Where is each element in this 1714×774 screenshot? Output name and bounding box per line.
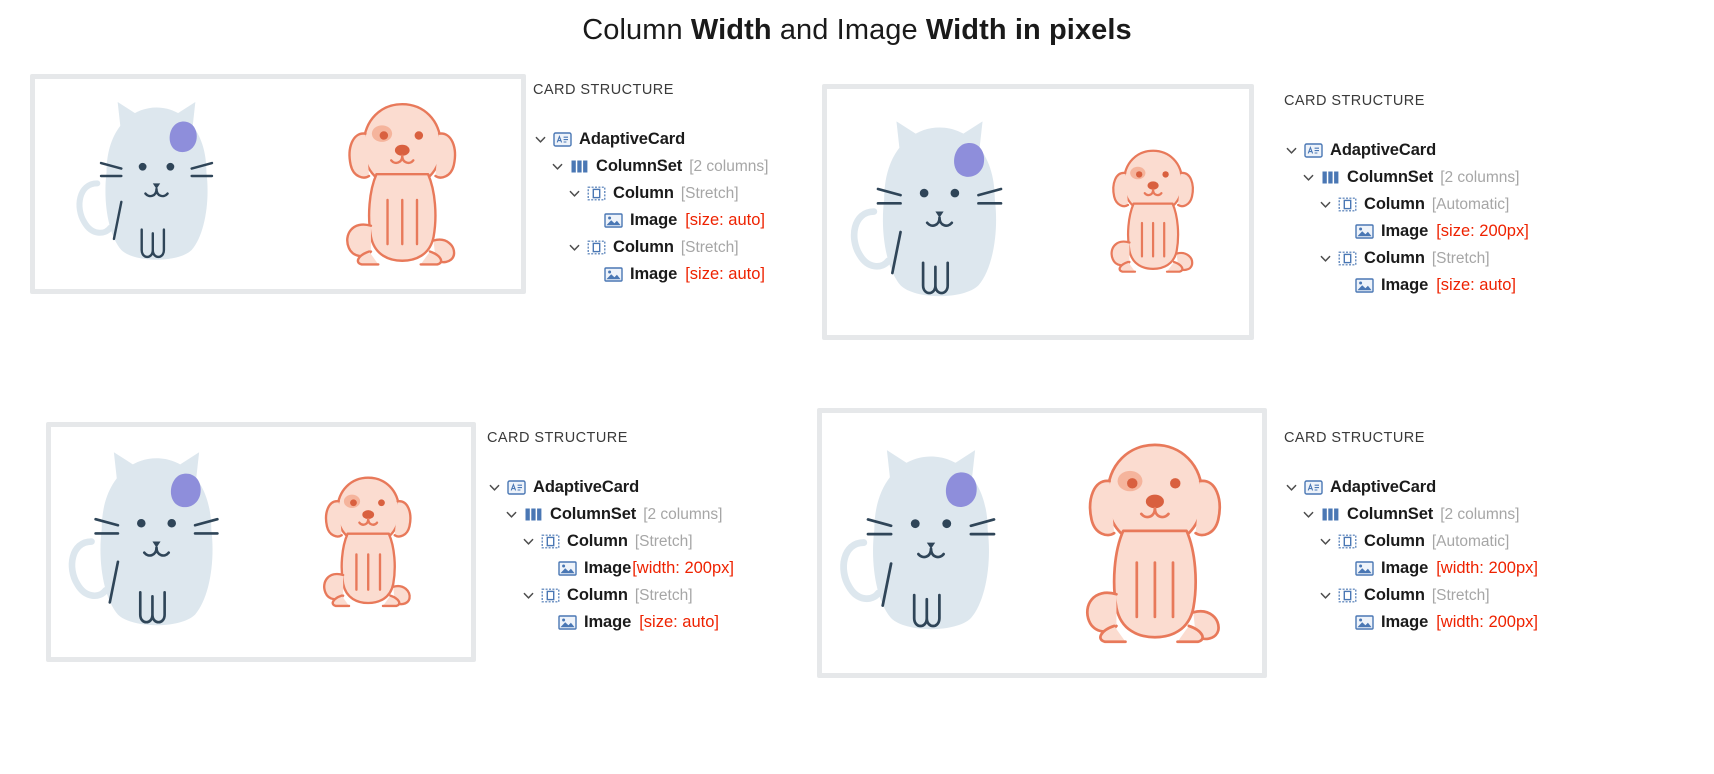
title-part-2: and Image [772, 14, 926, 46]
card-column-2 [278, 79, 521, 289]
chevron-down-icon[interactable] [521, 588, 536, 603]
tree-rows: AdaptiveCardColumnSet[2 columns]Column[S… [487, 474, 734, 636]
adaptivecard-icon [1304, 480, 1323, 495]
image-icon [1355, 615, 1374, 630]
tree-row[interactable]: ColumnSet[2 columns] [1284, 501, 1538, 528]
image-icon [558, 561, 577, 576]
column-icon [1338, 588, 1357, 603]
tree-node-meta: [Stretch] [1432, 250, 1490, 268]
chevron-down-icon[interactable] [1301, 507, 1316, 522]
tree-node-meta: [Automatic] [1432, 533, 1510, 551]
columnset-icon [524, 507, 543, 522]
tree-rows: AdaptiveCardColumnSet[2 columns]Column[S… [533, 126, 768, 288]
dog-image [312, 87, 487, 282]
chevron-down-icon[interactable] [487, 480, 502, 495]
image-icon [604, 267, 623, 282]
card-content [827, 89, 1249, 335]
column-icon [587, 240, 606, 255]
card-preview-bottom-right [817, 408, 1267, 678]
tree-title: CARD STRUCTURE [1284, 93, 1529, 109]
card-preview-top-left [30, 74, 526, 294]
tree-node-name: Column [1364, 249, 1425, 268]
chevron-down-icon[interactable] [1318, 251, 1333, 266]
tree-node-highlight: [size: auto] [685, 265, 765, 284]
tree-node-highlight: [size: auto] [1436, 276, 1516, 295]
chevron-down-icon[interactable] [1284, 143, 1299, 158]
card-structure-tree-top-left: CARD STRUCTURE AdaptiveCardColumnSet[2 c… [533, 82, 768, 288]
card-column-2 [261, 427, 471, 657]
image-icon [558, 615, 577, 630]
column-icon [541, 534, 560, 549]
tree-node-name: Image [630, 211, 677, 230]
chevron-down-icon[interactable] [1284, 480, 1299, 495]
cat-image [64, 87, 249, 282]
tree-node-name: Image [1381, 613, 1428, 632]
card-column-1 [51, 427, 261, 657]
tree-node-name: Column [567, 586, 628, 605]
tree-title: CARD STRUCTURE [487, 430, 734, 446]
tree-row[interactable]: Image[width: 200px] [487, 555, 734, 582]
tree-node-name: AdaptiveCard [1330, 141, 1436, 160]
tree-node-meta: [Automatic] [1432, 196, 1510, 214]
tree-node-name: AdaptiveCard [1330, 478, 1436, 497]
tree-node-meta: [Stretch] [681, 239, 739, 257]
tree-node-meta: [Stretch] [1432, 587, 1490, 605]
dog-image [1085, 138, 1217, 286]
tree-node-meta: [2 columns] [643, 506, 722, 524]
card-structure-tree-top-right: CARD STRUCTURE AdaptiveCardColumnSet[2 c… [1284, 93, 1529, 299]
tree-node-name: ColumnSet [1347, 168, 1433, 187]
tree-node-name: Image [1381, 559, 1428, 578]
tree-node-meta: [2 columns] [1440, 506, 1519, 524]
tree-node-name: Image [1381, 222, 1428, 241]
tree-row[interactable]: Image[size: 200px] [1284, 218, 1529, 245]
column-icon [1338, 197, 1357, 212]
chevron-down-icon[interactable] [1318, 588, 1333, 603]
image-icon [1355, 224, 1374, 239]
tree-node-highlight: [width: 200px] [632, 559, 734, 578]
tree-node-name: ColumnSet [1347, 505, 1433, 524]
tree-node-name: Column [613, 238, 674, 257]
tree-node-name: ColumnSet [596, 157, 682, 176]
dog-image [1044, 424, 1259, 662]
card-column-1 [827, 89, 1052, 335]
tree-node-name: Image [1381, 276, 1428, 295]
tree-node-name: AdaptiveCard [533, 478, 639, 497]
chevron-down-icon[interactable] [1318, 534, 1333, 549]
columnset-icon [1321, 507, 1340, 522]
tree-node-name: Image [630, 265, 677, 284]
tree-node-highlight: [size: auto] [639, 613, 719, 632]
tree-row[interactable]: AdaptiveCard [1284, 474, 1538, 501]
tree-node-name: ColumnSet [550, 505, 636, 524]
title-bold-1: Width [691, 14, 772, 46]
tree-title: CARD STRUCTURE [1284, 430, 1538, 446]
adaptivecard-icon [1304, 143, 1323, 158]
tree-node-highlight: [width: 200px] [1436, 559, 1538, 578]
tree-row[interactable]: Column[Stretch] [487, 582, 734, 609]
tree-node-meta: [2 columns] [689, 158, 768, 176]
tree-node-name: Column [1364, 195, 1425, 214]
card-content [51, 427, 471, 657]
tree-node-highlight: [size: 200px] [1436, 222, 1529, 241]
column-icon [1338, 251, 1357, 266]
tree-row[interactable]: Column[Stretch] [533, 234, 768, 261]
card-preview-bottom-left [46, 422, 476, 662]
adaptivecard-icon [507, 480, 526, 495]
tree-row[interactable]: ColumnSet[2 columns] [1284, 164, 1529, 191]
tree-row[interactable]: Image[size: auto] [533, 261, 768, 288]
tree-node-name: Column [613, 184, 674, 203]
tree-row[interactable]: Image[width: 200px] [1284, 609, 1538, 636]
tree-title: CARD STRUCTURE [533, 82, 768, 98]
tree-row[interactable]: Column[Stretch] [1284, 245, 1529, 272]
chevron-down-icon[interactable] [1301, 170, 1316, 185]
adaptivecard-icon [553, 132, 572, 147]
tree-node-highlight: [width: 200px] [1436, 613, 1538, 632]
tree-node-highlight: [size: auto] [685, 211, 765, 230]
card-column-1 [35, 79, 278, 289]
image-icon [1355, 278, 1374, 293]
tree-node-name: Image [584, 613, 631, 632]
tree-row[interactable]: ColumnSet[2 columns] [487, 501, 734, 528]
tree-row[interactable]: Column[Stretch] [533, 180, 768, 207]
chevron-down-icon[interactable] [1318, 197, 1333, 212]
card-content [35, 79, 521, 289]
tree-node-name: Column [1364, 532, 1425, 551]
columnset-icon [1321, 170, 1340, 185]
card-preview-top-right [822, 84, 1254, 340]
chevron-down-icon[interactable] [504, 507, 519, 522]
cat-image [837, 104, 1042, 321]
card-column-2 [1052, 89, 1249, 335]
tree-row[interactable]: AdaptiveCard [1284, 137, 1529, 164]
card-structure-tree-bottom-right: CARD STRUCTURE AdaptiveCardColumnSet[2 c… [1284, 430, 1538, 636]
tree-node-name: Column [1364, 586, 1425, 605]
tree-row[interactable]: Column[Automatic] [1284, 191, 1529, 218]
column-icon [541, 588, 560, 603]
tree-rows: AdaptiveCardColumnSet[2 columns]Column[A… [1284, 137, 1529, 299]
tree-node-meta: [Stretch] [635, 533, 693, 551]
tree-node-name: Image [584, 559, 631, 578]
column-icon [587, 186, 606, 201]
column-icon [1338, 534, 1357, 549]
cat-image [826, 432, 1036, 655]
columnset-icon [570, 159, 589, 174]
chevron-down-icon[interactable] [567, 186, 582, 201]
chevron-down-icon[interactable] [521, 534, 536, 549]
chevron-down-icon[interactable] [533, 132, 548, 147]
card-structure-tree-bottom-left: CARD STRUCTURE AdaptiveCardColumnSet[2 c… [487, 430, 734, 636]
tree-node-name: AdaptiveCard [579, 130, 685, 149]
tree-row[interactable]: Column[Automatic] [1284, 528, 1538, 555]
tree-node-meta: [2 columns] [1440, 169, 1519, 187]
tree-row[interactable]: AdaptiveCard [533, 126, 768, 153]
page-title: Column Width and Image Width in pixels [0, 14, 1714, 47]
title-bold-2: Width in pixels [926, 14, 1132, 46]
tree-row[interactable]: Image[size: auto] [533, 207, 768, 234]
tree-row[interactable]: ColumnSet[2 columns] [533, 153, 768, 180]
tree-row[interactable]: Image[width: 200px] [1284, 555, 1538, 582]
tree-row[interactable]: Column[Stretch] [487, 528, 734, 555]
tree-rows: AdaptiveCardColumnSet[2 columns]Column[A… [1284, 474, 1538, 636]
chevron-down-icon[interactable] [550, 159, 565, 174]
card-content [822, 413, 1262, 673]
title-part-1: Column [582, 14, 691, 46]
tree-row[interactable]: Image[size: auto] [487, 609, 734, 636]
tree-node-meta: [Stretch] [681, 185, 739, 203]
tree-row[interactable]: Column[Stretch] [1284, 582, 1538, 609]
tree-row[interactable]: AdaptiveCard [487, 474, 734, 501]
tree-node-name: Column [567, 532, 628, 551]
card-column-2 [1040, 413, 1262, 673]
image-icon [604, 213, 623, 228]
cat-image [55, 435, 258, 650]
tree-row[interactable]: Image[size: auto] [1284, 272, 1529, 299]
page-root: Column Width and Image Width in pixels [0, 0, 1714, 774]
dog-image [296, 464, 436, 621]
card-column-1 [822, 413, 1040, 673]
tree-node-meta: [Stretch] [635, 587, 693, 605]
image-icon [1355, 561, 1374, 576]
chevron-down-icon[interactable] [567, 240, 582, 255]
